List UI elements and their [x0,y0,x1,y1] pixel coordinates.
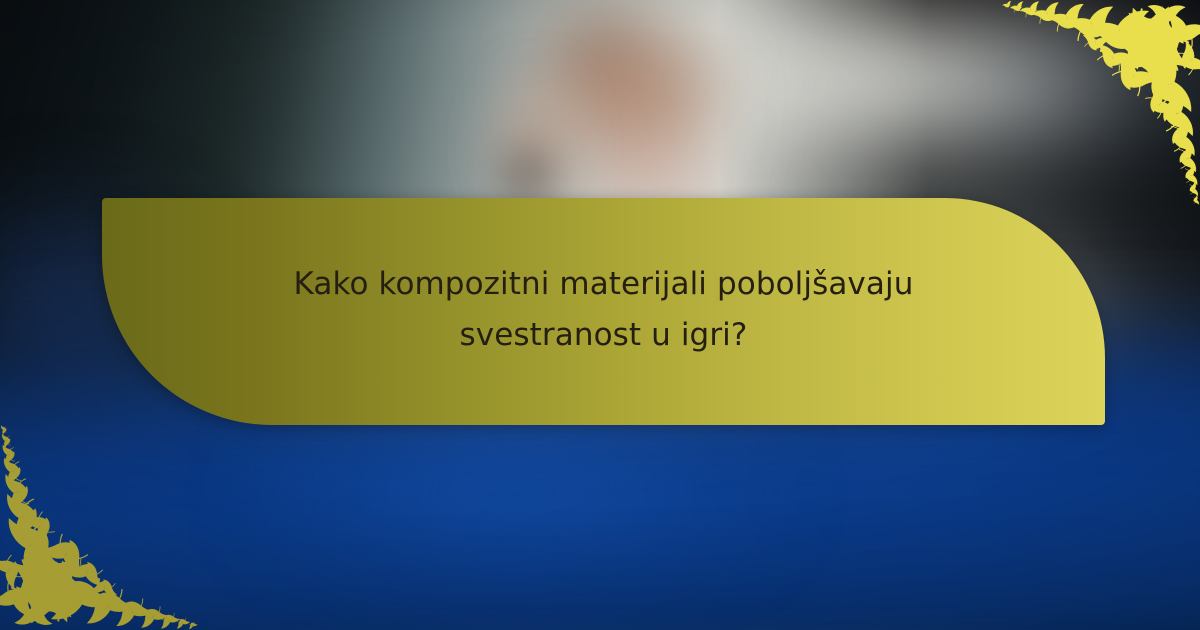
question-banner: Kako kompozitni materijali poboljšavaju … [102,198,1105,425]
question-title: Kako kompozitni materijali poboljšavaju … [254,259,954,359]
share-card: Kako kompozitni materijali poboljšavaju … [0,0,1200,630]
